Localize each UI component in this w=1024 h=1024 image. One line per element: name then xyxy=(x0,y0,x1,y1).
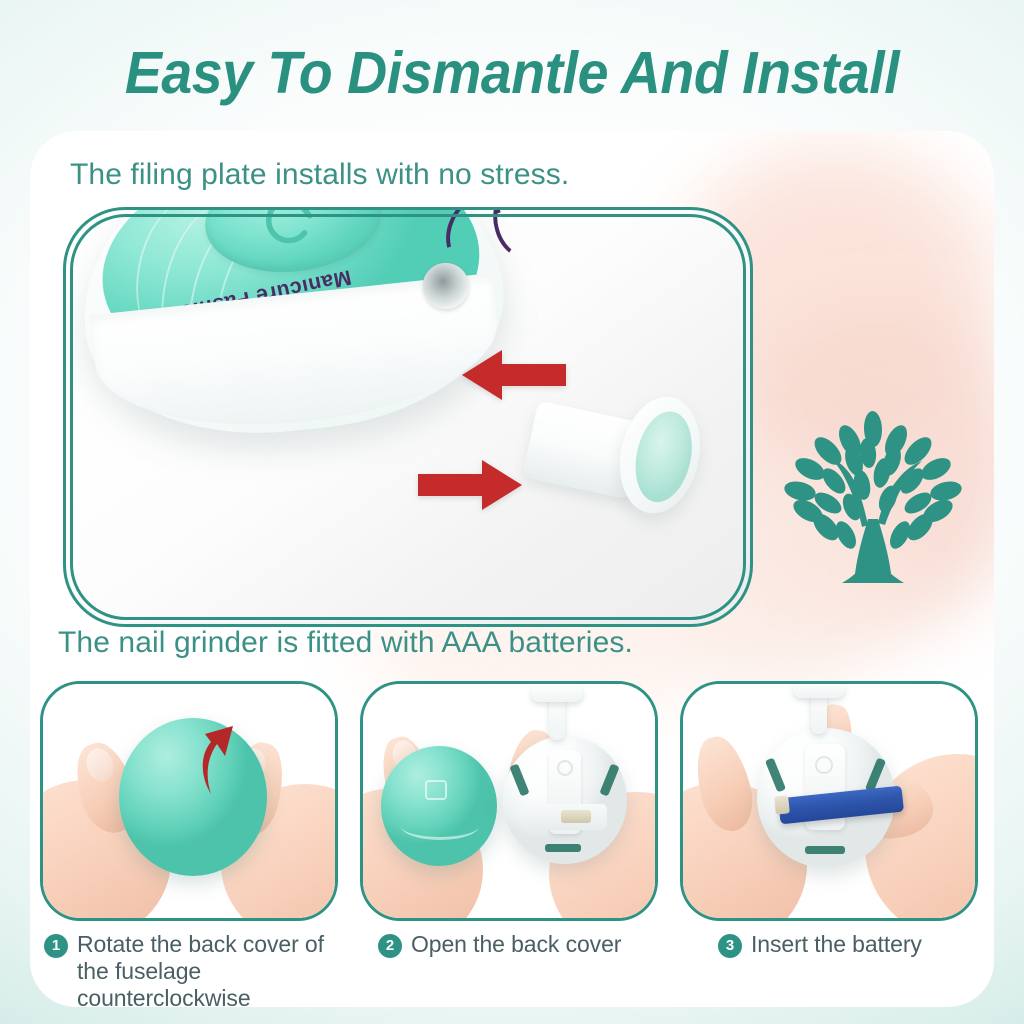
step-photo-2 xyxy=(360,681,658,921)
filing-plate-head xyxy=(793,681,845,698)
step-caption-text-3: Insert the battery xyxy=(751,931,922,958)
shell-slot xyxy=(545,844,581,852)
detached-mint-cover xyxy=(381,746,497,866)
step-badge-1: 1 xyxy=(44,934,68,958)
photo-stage xyxy=(43,684,335,918)
step-badge-2: 2 xyxy=(378,934,402,958)
step-caption-text-1: Rotate the back cover of the fuselage co… xyxy=(77,931,344,1007)
title-bar: Easy To Dismantle And Install xyxy=(0,34,1024,112)
hero-subtitle: The filing plate installs with no stress… xyxy=(70,158,569,192)
photo-stage xyxy=(363,684,655,918)
step-photo-3 xyxy=(680,681,978,921)
page-title: Easy To Dismantle And Install xyxy=(31,34,994,112)
content-card: The filing plate installs with no stress… xyxy=(30,131,994,1007)
step-badge-3: 3 xyxy=(718,934,742,958)
shell-slot xyxy=(805,846,845,854)
shell-slot xyxy=(509,763,529,796)
battery-contact xyxy=(561,810,591,823)
tree-logo-icon xyxy=(782,407,964,587)
step-photo-1 xyxy=(40,681,338,921)
battery-subtitle: The nail grinder is fitted with AAA batt… xyxy=(58,626,633,660)
step-caption-1: 1 Rotate the back cover of the fuselage … xyxy=(44,931,344,1007)
photo-stage xyxy=(683,684,975,918)
filing-plate-head xyxy=(531,684,583,702)
step-caption-3: 3 Insert the battery xyxy=(718,931,994,958)
hero-frame-inner-border xyxy=(70,214,746,620)
battery-terminal xyxy=(774,795,790,814)
battery-compartment xyxy=(503,736,627,864)
step-caption-2: 2 Open the back cover xyxy=(378,931,678,958)
step-caption-text-2: Open the back cover xyxy=(411,931,621,958)
rotation-arrow-icon xyxy=(175,724,271,816)
shell-slot xyxy=(599,763,619,796)
shell-slot xyxy=(765,758,786,793)
